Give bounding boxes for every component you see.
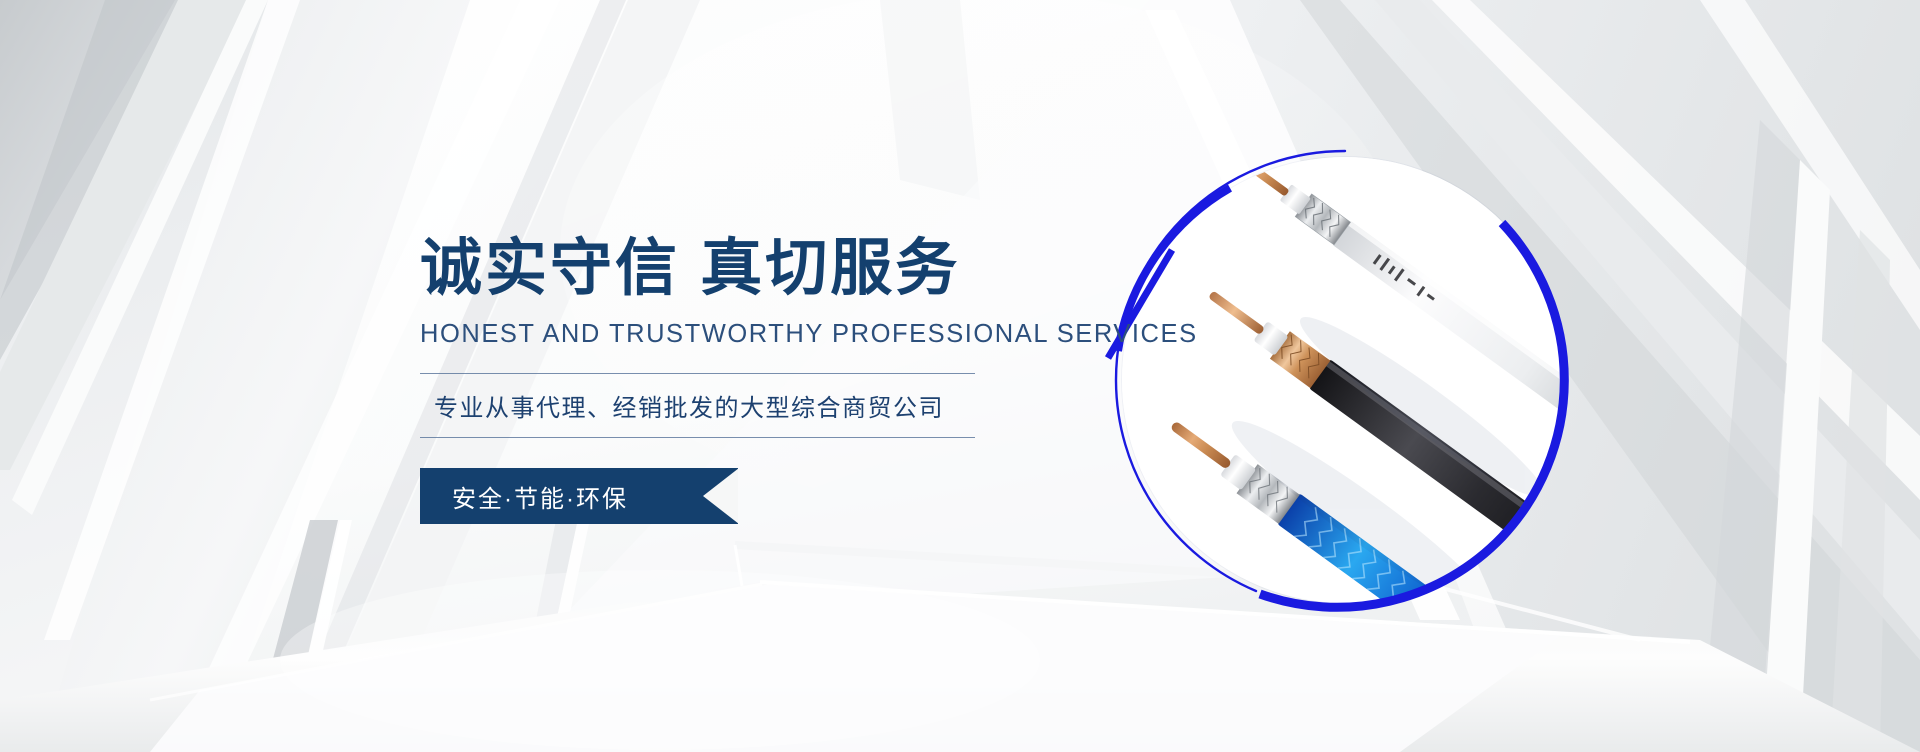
feature-badge[interactable]: 安全·节能·环保 xyxy=(420,468,738,524)
subtitle-english: HONEST AND TRUSTWORTHY PROFESSIONAL SERV… xyxy=(420,320,1080,349)
page-title: 诚实守信 真切服务 xyxy=(420,238,1080,300)
description-text: 专业从事代理、经销批发的大型综合商贸公司 xyxy=(420,374,1080,437)
hero-banner: 诚实守信 真切服务 HONEST AND TRUSTWORTHY PROFESS… xyxy=(0,0,1920,752)
divider-top xyxy=(420,373,975,374)
hero-text-block: 诚实守信 真切服务 HONEST AND TRUSTWORTHY PROFESS… xyxy=(420,238,1080,524)
ribbon-notch-icon xyxy=(703,468,739,524)
accent-strokes xyxy=(1060,240,1200,390)
feature-badge-label: 安全·节能·环保 xyxy=(420,479,628,514)
divider-bottom xyxy=(420,437,975,438)
